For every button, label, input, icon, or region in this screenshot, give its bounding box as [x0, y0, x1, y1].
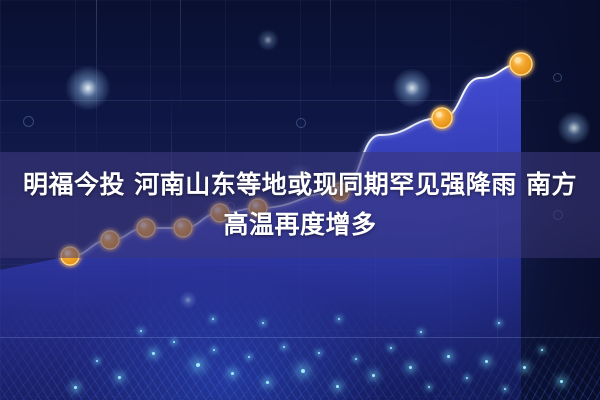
promo-banner: 明福今投 河南山东等地或现同期罕见强降雨 南方 高温再度增多	[0, 0, 600, 400]
headline-line-1: 明福今投 河南山东等地或现同期罕见强降雨 南方	[23, 165, 577, 205]
headline-block: 明福今投 河南山东等地或现同期罕见强降雨 南方 高温再度增多	[0, 152, 600, 258]
divider-line-lower	[0, 337, 600, 338]
headline-line-2: 高温再度增多	[223, 205, 376, 245]
chart-data-point	[510, 53, 532, 75]
chart-data-point-highlight	[436, 112, 442, 118]
chart-data-point-highlight	[514, 57, 521, 64]
chart-data-point	[432, 108, 452, 128]
